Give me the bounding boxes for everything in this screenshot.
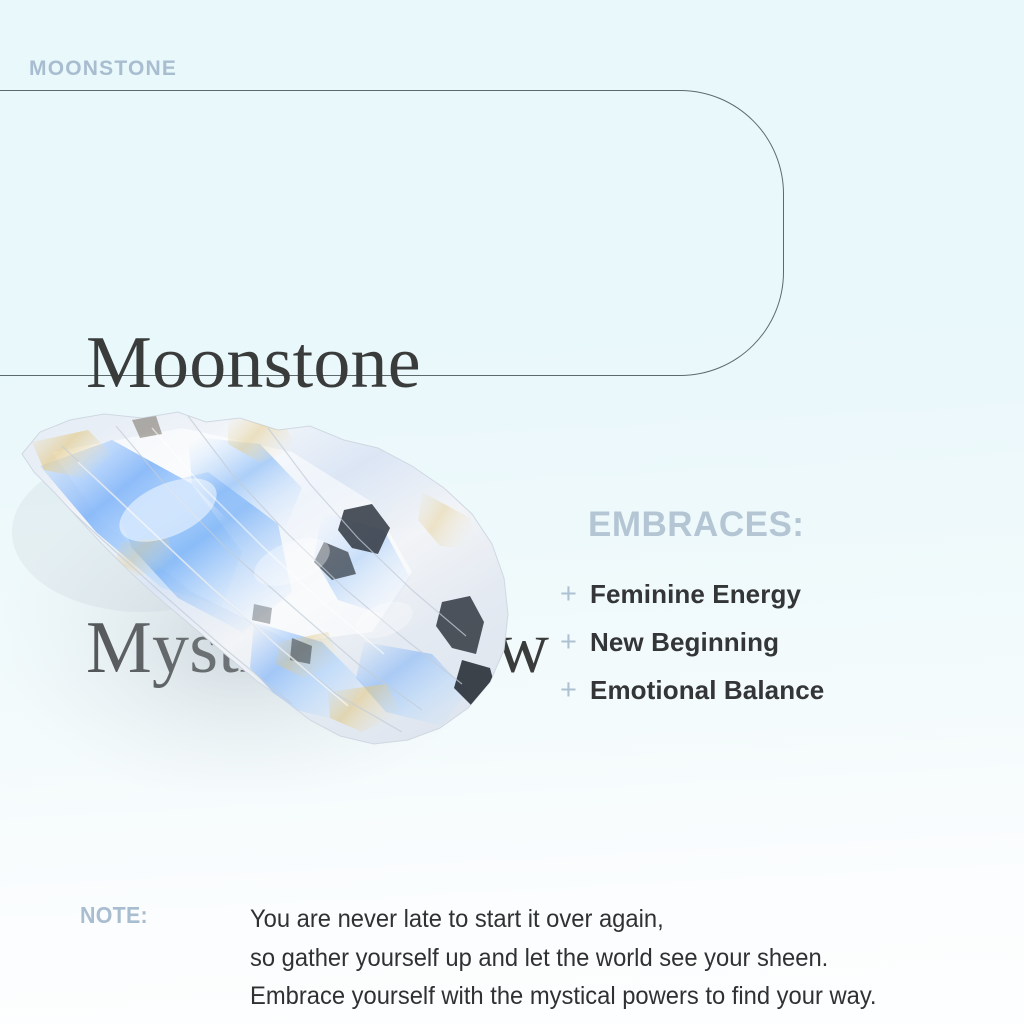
embrace-item-label: Feminine Energy bbox=[590, 579, 801, 610]
list-item: + Emotional Balance bbox=[560, 675, 980, 706]
eyebrow-label: MOONSTONE bbox=[29, 57, 177, 81]
plus-icon: + bbox=[560, 580, 590, 609]
plus-icon: + bbox=[560, 676, 590, 705]
embrace-item-label: Emotional Balance bbox=[590, 675, 824, 706]
note-line-1: You are never late to start it over agai… bbox=[250, 900, 877, 939]
note-section: NOTE: You are never late to start it ove… bbox=[80, 900, 910, 1016]
list-item: + Feminine Energy bbox=[560, 579, 980, 610]
moonstone-poster: MOONSTONE Moonstone Mystical Glow bbox=[0, 0, 1024, 1024]
note-line-3: Embrace yourself with the mystical power… bbox=[250, 977, 877, 1016]
list-item: + New Beginning bbox=[560, 627, 980, 658]
note-label: NOTE: bbox=[80, 900, 238, 929]
note-body: You are never late to start it over agai… bbox=[250, 900, 877, 1016]
moonstone-image bbox=[0, 392, 552, 792]
embrace-item-label: New Beginning bbox=[590, 627, 779, 658]
embraces-heading: EMBRACES: bbox=[588, 505, 980, 545]
plus-icon: + bbox=[560, 628, 590, 657]
embraces-section: EMBRACES: + Feminine Energy + New Beginn… bbox=[560, 505, 980, 723]
moonstone-crystal-icon bbox=[0, 392, 552, 792]
embraces-list: + Feminine Energy + New Beginning + Emot… bbox=[560, 579, 980, 706]
note-line-2: so gather yourself up and let the world … bbox=[250, 939, 877, 978]
